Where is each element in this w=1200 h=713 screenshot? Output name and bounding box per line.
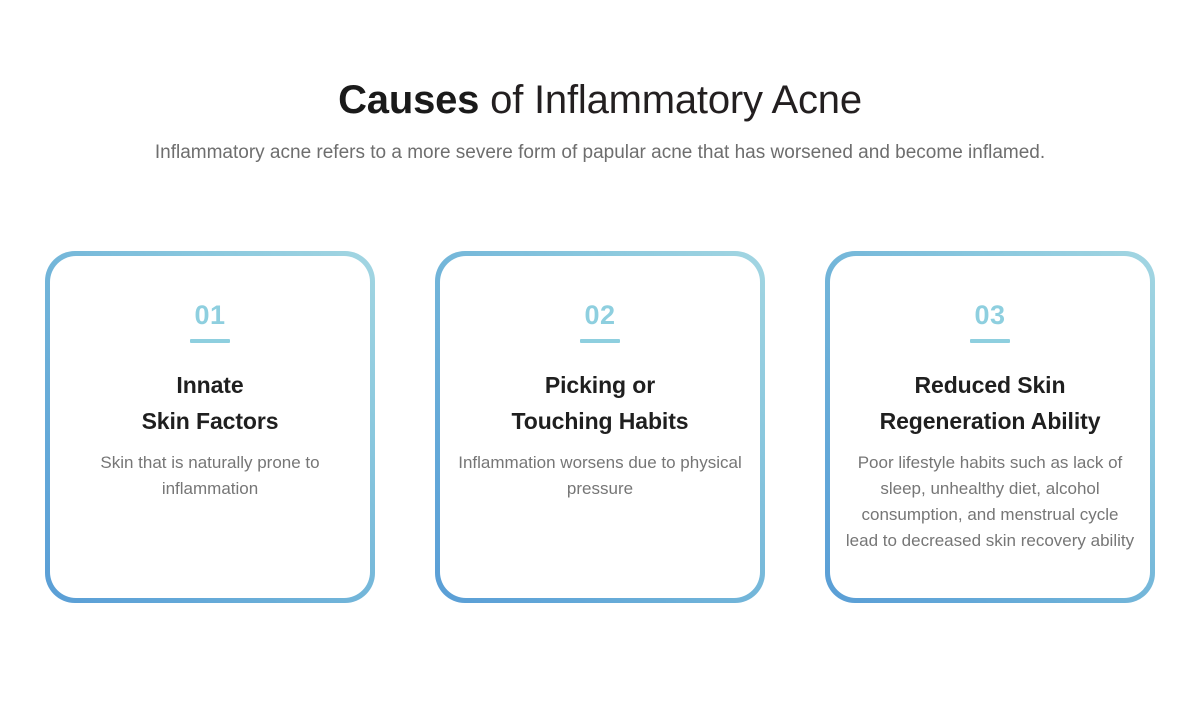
- cause-card-1-rule: [190, 339, 230, 343]
- cause-card-2-heading: Picking orTouching Habits: [512, 367, 689, 439]
- cause-card-1[interactable]: 01 InnateSkin Factors Skin that is natur…: [45, 251, 375, 603]
- page-title-rest: of Inflammatory Acne: [479, 78, 862, 122]
- cause-card-1-heading: InnateSkin Factors: [142, 367, 279, 439]
- cause-card-3-inner: 03 Reduced SkinRegeneration Ability Poor…: [830, 256, 1150, 598]
- cause-card-2-body: Inflammation worsens due to physical pre…: [455, 450, 745, 502]
- cards-row: 01 InnateSkin Factors Skin that is natur…: [45, 251, 1155, 603]
- cause-card-3-number: 03: [974, 300, 1005, 330]
- cause-card-2[interactable]: 02 Picking orTouching Habits Inflammatio…: [435, 251, 765, 603]
- cause-card-1-number: 01: [194, 300, 225, 330]
- page-subtitle: Inflammatory acne refers to a more sever…: [0, 139, 1200, 167]
- cause-card-2-rule: [580, 339, 620, 343]
- infographic-page: Causes of Inflammatory Acne Inflammatory…: [0, 0, 1200, 713]
- cause-card-2-inner: 02 Picking orTouching Habits Inflammatio…: [440, 256, 760, 598]
- page-title-emphasis: Causes: [338, 78, 479, 122]
- cause-card-3[interactable]: 03 Reduced SkinRegeneration Ability Poor…: [825, 251, 1155, 603]
- page-title: Causes of Inflammatory Acne: [0, 74, 1200, 126]
- cause-card-3-body: Poor lifestyle habits such as lack of sl…: [845, 450, 1135, 554]
- cause-card-2-number: 02: [584, 300, 615, 330]
- header: Causes of Inflammatory Acne Inflammatory…: [0, 74, 1200, 167]
- cause-card-1-body: Skin that is naturally prone to inflamma…: [65, 450, 355, 502]
- cause-card-3-rule: [970, 339, 1010, 343]
- cause-card-3-heading: Reduced SkinRegeneration Ability: [880, 367, 1101, 439]
- cause-card-1-inner: 01 InnateSkin Factors Skin that is natur…: [50, 256, 370, 598]
